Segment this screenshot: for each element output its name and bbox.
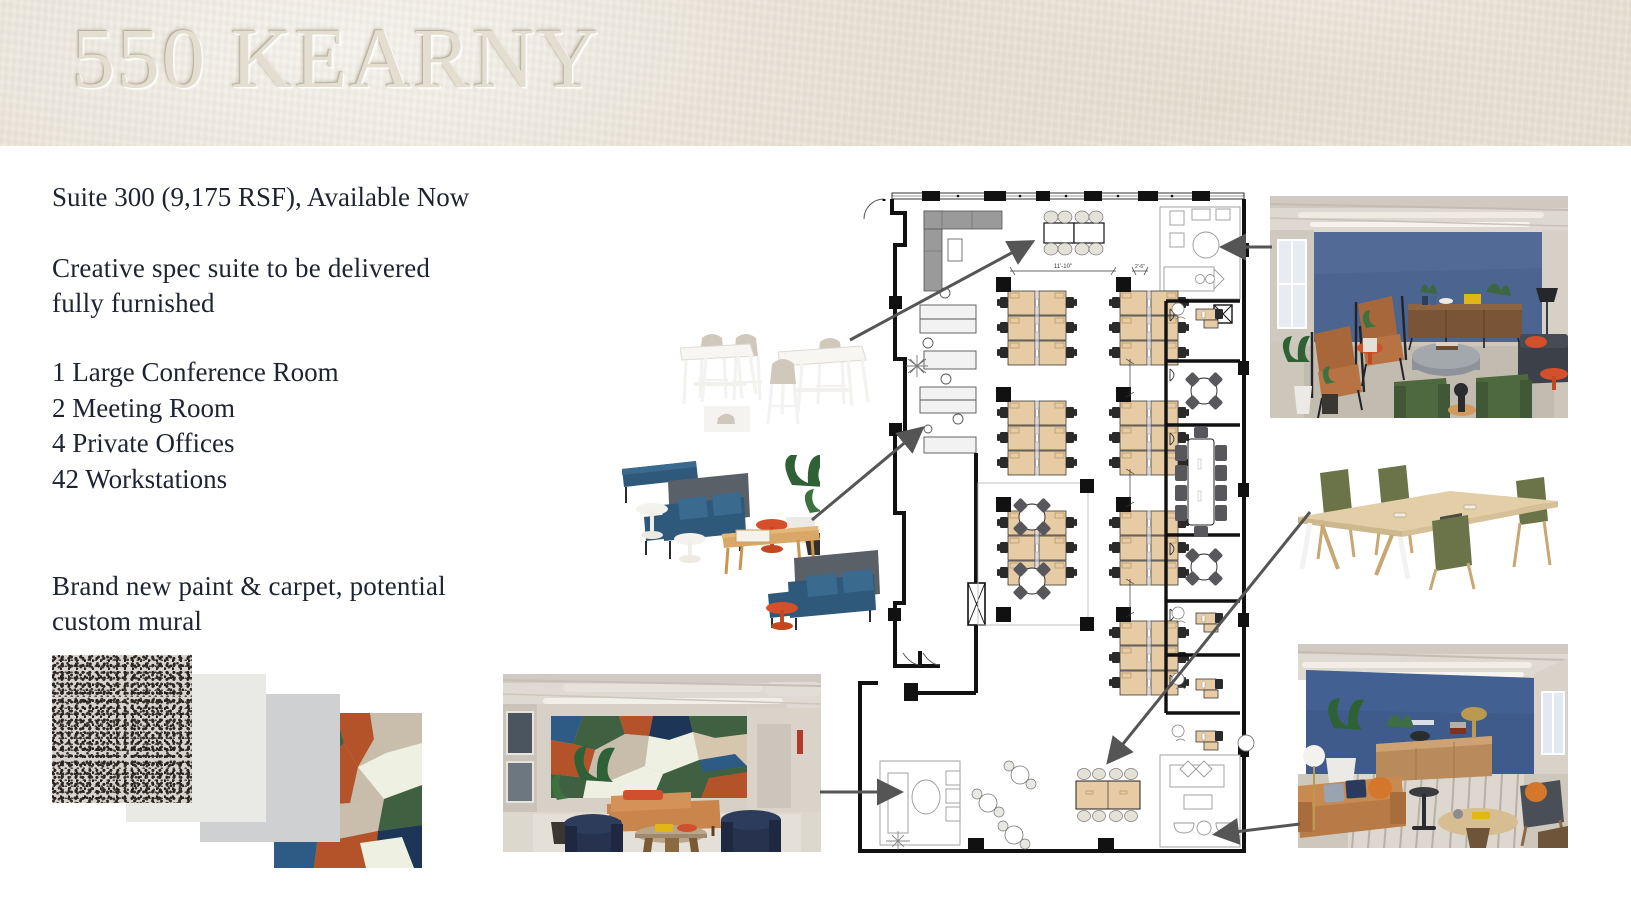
carpet-swatch <box>52 655 192 803</box>
pantry-block <box>1160 755 1240 847</box>
floor-lamp-plan <box>1238 735 1254 751</box>
spec-line-2: fully furnished <box>52 286 572 321</box>
paint-description: Brand new paint & carpet, potential cust… <box>52 569 572 639</box>
dimension-label-2: 2'-6" <box>1135 264 1145 270</box>
building-core <box>1160 207 1240 299</box>
header-band: 550 KEARNY <box>0 0 1631 146</box>
lounge-sofa-cutout-b[interactable] <box>722 520 907 630</box>
material-swatch-group <box>52 655 452 870</box>
list-item: 2 Meeting Room <box>52 391 572 427</box>
pantry-run <box>920 288 976 453</box>
mural-rendering[interactable] <box>503 674 821 852</box>
bar-table-plan <box>1044 211 1104 255</box>
lounge-rendering[interactable] <box>1270 196 1568 418</box>
room-meeting-2 <box>1185 548 1224 587</box>
page-title: Suite 300 (9,175 RSF), Available Now <box>52 180 572 215</box>
room-meeting-1 <box>1185 372 1224 411</box>
floor-plan[interactable]: 11'-10" 2'-6" <box>848 183 1258 855</box>
dimension-label-1: 11'-10" <box>1054 264 1072 270</box>
room-large-conference <box>1175 427 1227 537</box>
paint-line-1: Brand new paint & carpet, potential <box>52 569 572 604</box>
bar-table-cutout[interactable] <box>680 330 870 435</box>
reception-rendering[interactable] <box>1298 616 1568 848</box>
building-logo: 550 KEARNY <box>72 8 601 108</box>
entry-doors <box>895 651 940 666</box>
feature-list: 1 Large Conference Room 2 Meeting Room 4… <box>52 355 572 497</box>
floor-plan-drawing: 11'-10" 2'-6" <box>848 183 1258 855</box>
l-sofa-plan <box>924 211 1002 291</box>
reception-area <box>880 761 960 851</box>
list-item: 1 Large Conference Room <box>52 355 572 391</box>
window-wall-top <box>892 191 1244 201</box>
paint-line-2: custom mural <box>52 604 572 639</box>
spec-line-1: Creative spec suite to be delivered <box>52 251 572 286</box>
room-private-office-4 <box>1172 725 1223 750</box>
spec-description: Creative spec suite to be delivered full… <box>52 251 572 321</box>
list-item: 4 Private Offices <box>52 426 572 462</box>
soft-seating-cluster <box>972 761 1036 849</box>
conference-table-cutout[interactable] <box>1282 455 1572 590</box>
lower-conference-table <box>1076 769 1140 822</box>
listing-copy: Suite 300 (9,175 RSF), Available Now Cre… <box>52 180 572 639</box>
list-item: 42 Workstations <box>52 462 572 498</box>
